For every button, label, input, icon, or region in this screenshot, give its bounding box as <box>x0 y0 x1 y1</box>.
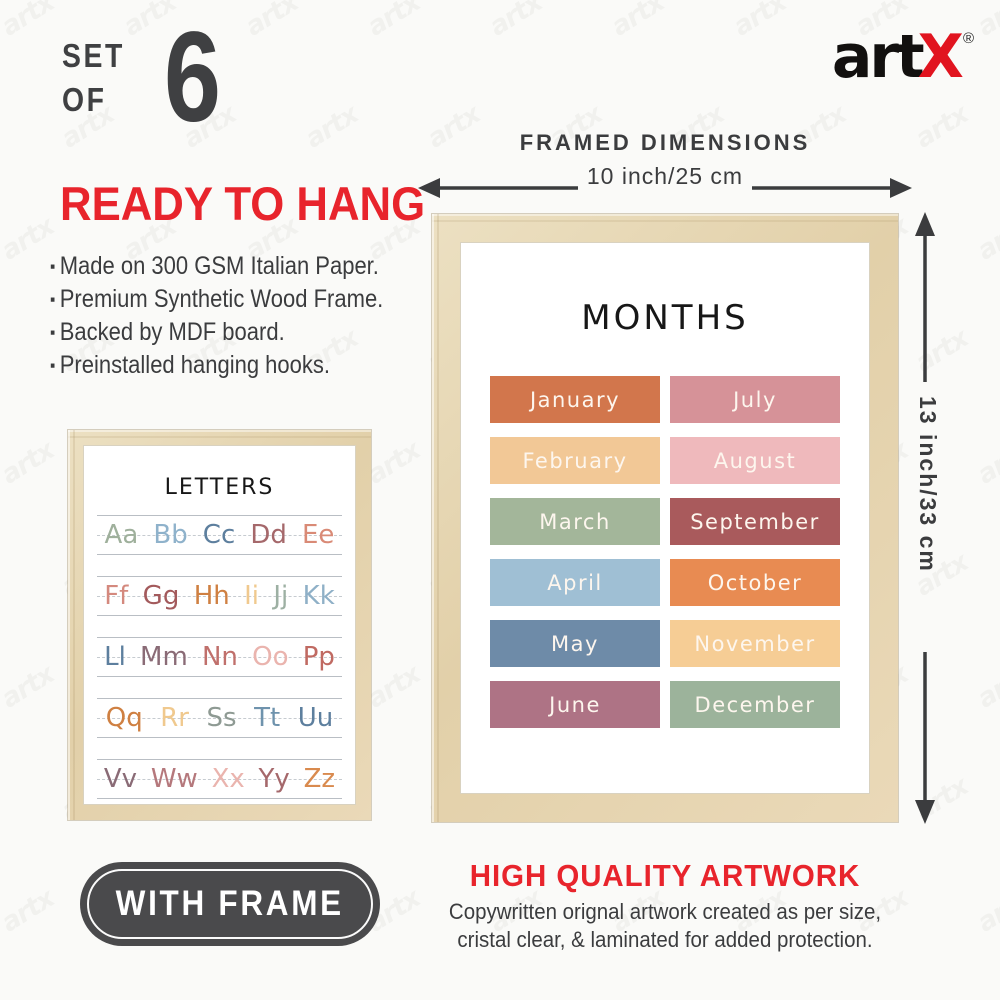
feature-list-item-label: Preinstalled hanging hooks. <box>60 351 330 379</box>
letter-pair: Vv <box>104 764 137 794</box>
letters-poster-content: LETTERS AaBbCcDdEeFfGgHhIiJjKkLlMmNnOoPp… <box>83 445 356 805</box>
month-label: June <box>549 693 601 717</box>
width-arrow-icon <box>418 175 912 201</box>
feature-list-item-label: Premium Synthetic Wood Frame. <box>60 285 384 313</box>
watermark-text: artx <box>910 100 973 155</box>
with-frame-badge: WITH FRAME <box>80 862 380 946</box>
page-title: READY TO HANG <box>60 178 425 230</box>
quality-title: HIGH QUALITY ARTWORK <box>423 858 908 894</box>
month-label: July <box>733 388 777 412</box>
letter-pair: Tt <box>254 703 280 733</box>
feature-list-item-label: Made on 300 GSM Italian Paper. <box>60 252 379 280</box>
letter-pair: Dd <box>250 520 287 550</box>
watermark-text: artx <box>606 0 669 42</box>
letter-pair: Kk <box>303 581 335 611</box>
logo-x-text: X <box>918 28 962 86</box>
bullet-dot-icon: ▪ <box>50 323 55 342</box>
bullet-dot-icon: ▪ <box>50 356 55 375</box>
month-label: February <box>522 449 627 473</box>
letter-pair: Rr <box>160 703 189 733</box>
quality-line-1: Copywritten orignal artwork created as p… <box>423 898 907 926</box>
letter-pair: Uu <box>298 703 334 733</box>
letter-pair: Cc <box>203 520 235 550</box>
watermark-text: artx <box>544 996 607 1000</box>
letter-pair-group: VvWwXxYyZz <box>97 757 342 801</box>
framed-height-value: 13 inch/33 cm <box>914 396 941 573</box>
watermark-text: artx <box>972 436 1000 491</box>
watermark-text: artx <box>972 660 1000 715</box>
month-block: December <box>670 681 840 728</box>
month-label: January <box>530 388 620 412</box>
month-label: October <box>708 571 803 595</box>
month-label: September <box>690 510 820 534</box>
letter-pair: Mm <box>140 642 188 672</box>
letter-pair: Gg <box>143 581 180 611</box>
letters-row: AaBbCcDdEe <box>97 509 342 561</box>
letter-pair: Zz <box>304 764 335 794</box>
watermark-text: artx <box>422 996 485 1000</box>
feature-list: ▪Made on 300 GSM Italian Paper.▪Premium … <box>50 250 420 382</box>
letter-pair: Pp <box>303 642 335 672</box>
set-of-badge: SET OF 6 <box>58 28 388 138</box>
month-label: April <box>547 571 603 595</box>
set-of-words: SET OF <box>62 34 125 122</box>
letter-pair: Yy <box>259 764 290 794</box>
watermark-text: artx <box>972 212 1000 267</box>
feature-list-item: ▪Preinstalled hanging hooks. <box>50 349 376 382</box>
set-label: SET <box>62 34 125 78</box>
letter-pair: Ff <box>104 581 128 611</box>
bullet-dot-icon: ▪ <box>50 290 55 309</box>
bullet-dot-icon: ▪ <box>50 257 55 276</box>
watermark-text: artx <box>178 996 241 1000</box>
artx-logo: art X ® <box>832 28 974 90</box>
letter-pair-group: LlMmNnOoPp <box>97 635 342 679</box>
months-poster-title: MONTHS <box>460 298 870 338</box>
watermark-text: artx <box>0 884 59 939</box>
month-label: December <box>695 693 816 717</box>
feature-list-item: ▪Backed by MDF board. <box>50 316 376 349</box>
quality-description: Copywritten orignal artwork created as p… <box>423 898 907 954</box>
month-block: October <box>670 559 840 606</box>
letter-pair: Ee <box>302 520 334 550</box>
letter-pair: Jj <box>273 581 288 611</box>
month-block: January <box>490 376 660 423</box>
letter-pair: Bb <box>153 520 187 550</box>
letter-pair: Qq <box>106 703 143 733</box>
letter-pair: Xx <box>212 764 245 794</box>
month-label: November <box>694 632 815 656</box>
letters-row: VvWwXxYyZz <box>97 753 342 805</box>
of-label: OF <box>62 78 125 122</box>
month-label: August <box>714 449 797 473</box>
letter-pair-group: QqRrSsTtUu <box>97 696 342 740</box>
letter-pair: Ll <box>104 642 126 672</box>
month-block: July <box>670 376 840 423</box>
watermark-text: artx <box>300 996 363 1000</box>
watermark-text: artx <box>56 996 119 1000</box>
month-block: February <box>490 437 660 484</box>
watermark-text: artx <box>666 996 729 1000</box>
letters-row: QqRrSsTtUu <box>97 692 342 744</box>
product-marketing-image: artxartxartxartxartxartxartxartxartxartx… <box>0 0 1000 1000</box>
letter-pair: Aa <box>105 520 139 550</box>
feature-list-item-label: Backed by MDF board. <box>60 318 285 346</box>
letter-pair: Ww <box>151 764 198 794</box>
watermark-text: artx <box>728 0 791 42</box>
letter-pair: Oo <box>252 642 288 672</box>
watermark-text: artx <box>0 660 59 715</box>
letter-pair: Hh <box>194 581 230 611</box>
watermark-text: artx <box>0 436 59 491</box>
letter-pair: Nn <box>202 642 238 672</box>
months-poster-content: MONTHS JanuaryJulyFebruaryAugustMarchSep… <box>460 242 870 794</box>
letters-row: LlMmNnOoPp <box>97 631 342 683</box>
set-count: 6 <box>164 14 221 142</box>
watermark-text: artx <box>788 996 851 1000</box>
watermark-text: artx <box>972 0 1000 42</box>
letter-pair: Ss <box>207 703 237 733</box>
letter-pair-group: FfGgHhIiJjKk <box>97 574 342 618</box>
letters-rows: AaBbCcDdEeFfGgHhIiJjKkLlMmNnOoPpQqRrSsTt… <box>83 509 356 805</box>
watermark-text: artx <box>0 0 59 42</box>
framed-dimensions-label: FRAMED DIMENSIONS <box>432 130 898 156</box>
month-block: November <box>670 620 840 667</box>
watermark-text: artx <box>484 0 547 42</box>
months-grid: JanuaryJulyFebruaryAugustMarchSeptemberA… <box>460 376 870 728</box>
watermark-text: artx <box>910 996 973 1000</box>
month-block: May <box>490 620 660 667</box>
watermark-text: artx <box>362 436 425 491</box>
registered-trademark-icon: ® <box>963 30 974 47</box>
month-label: May <box>551 632 599 656</box>
month-block: April <box>490 559 660 606</box>
quality-line-2: cristal clear, & laminated for added pro… <box>423 926 907 954</box>
watermark-text: artx <box>972 884 1000 939</box>
month-block: March <box>490 498 660 545</box>
letters-poster-title: LETTERS <box>83 475 356 500</box>
feature-list-item: ▪Premium Synthetic Wood Frame. <box>50 283 376 316</box>
letter-pair: Ii <box>244 581 259 611</box>
feature-list-item: ▪Made on 300 GSM Italian Paper. <box>50 250 376 283</box>
month-block: August <box>670 437 840 484</box>
letters-row: FfGgHhIiJjKk <box>97 570 342 622</box>
watermark-text: artx <box>362 660 425 715</box>
with-frame-label: WITH FRAME <box>116 884 344 924</box>
logo-art-text: art <box>832 28 922 86</box>
month-block: June <box>490 681 660 728</box>
letter-pair-group: AaBbCcDdEe <box>97 513 342 557</box>
month-block: September <box>670 498 840 545</box>
month-label: March <box>539 510 611 534</box>
